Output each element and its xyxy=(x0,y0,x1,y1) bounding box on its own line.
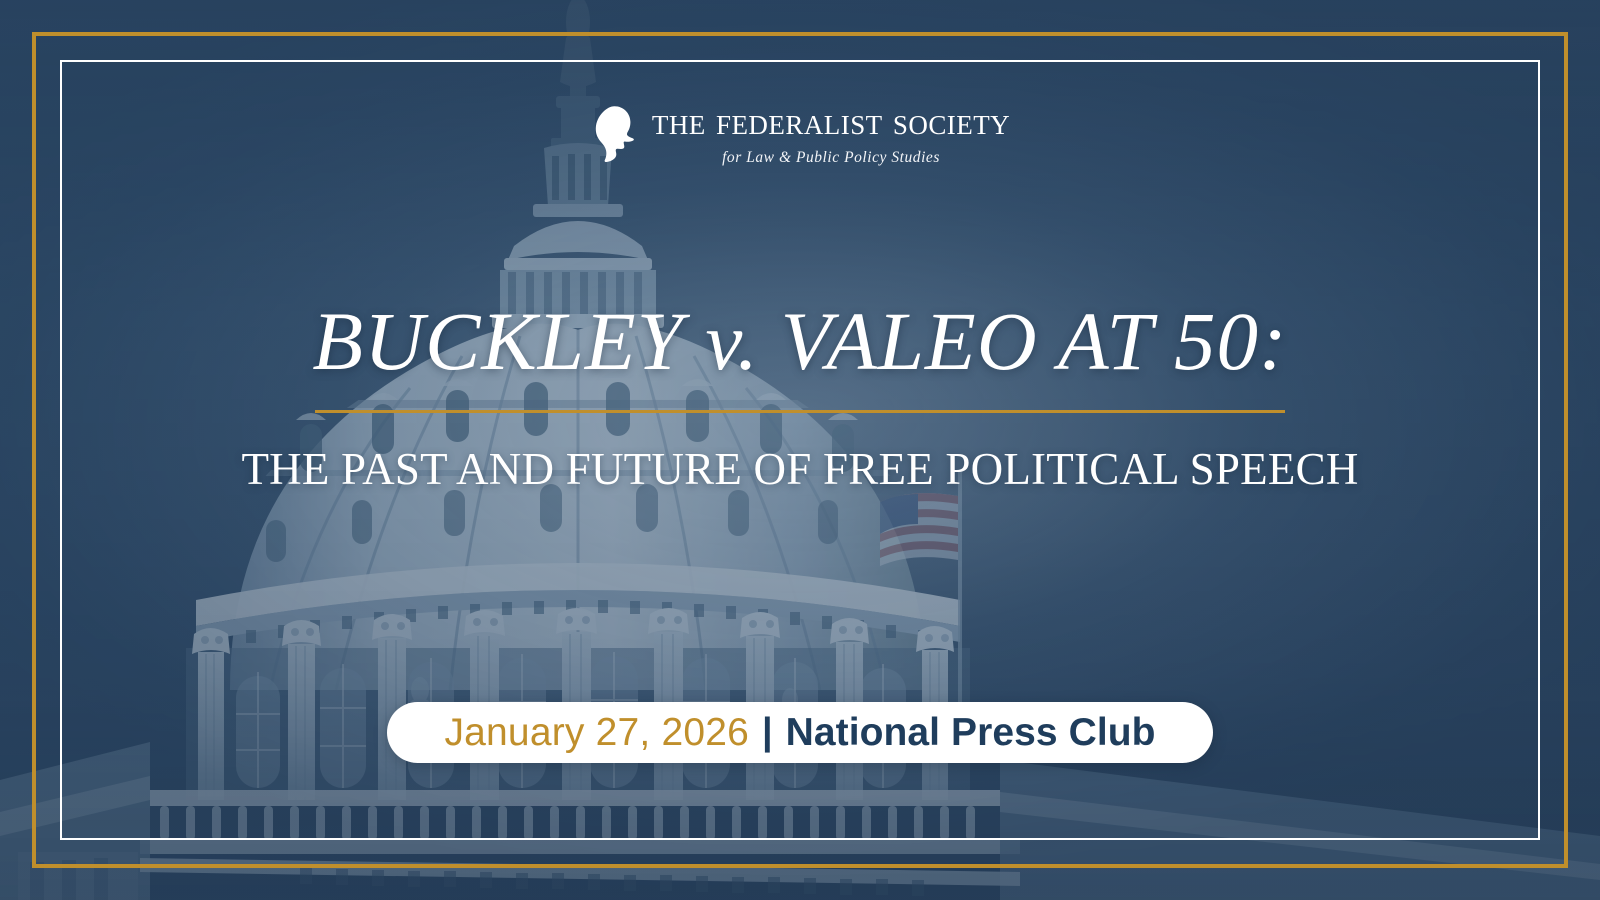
gold-divider-rule xyxy=(315,410,1285,413)
pill-separator: | xyxy=(749,711,786,754)
title-block: BUCKLEY v. VALEO AT 50: THE PAST AND FUT… xyxy=(0,300,1600,492)
federalist-society-logo: The Federalist Society for Law & Public … xyxy=(0,102,1600,166)
event-date: January 27, 2026 xyxy=(444,711,749,755)
logo-wordmark: The Federalist Society for Law & Public … xyxy=(652,102,1010,166)
event-venue: National Press Club xyxy=(786,711,1156,755)
organization-tagline: for Law & Public Policy Studies xyxy=(722,150,940,166)
organization-name: The Federalist Society xyxy=(652,102,1010,141)
event-subtitle: THE PAST AND FUTURE OF FREE POLITICAL SP… xyxy=(0,447,1600,492)
event-poster: The Federalist Society for Law & Public … xyxy=(0,0,1600,900)
madison-silhouette-icon xyxy=(590,105,636,163)
event-title: BUCKLEY v. VALEO AT 50: xyxy=(0,300,1600,383)
date-venue-pill: January 27, 2026 | National Press Club xyxy=(387,702,1213,763)
